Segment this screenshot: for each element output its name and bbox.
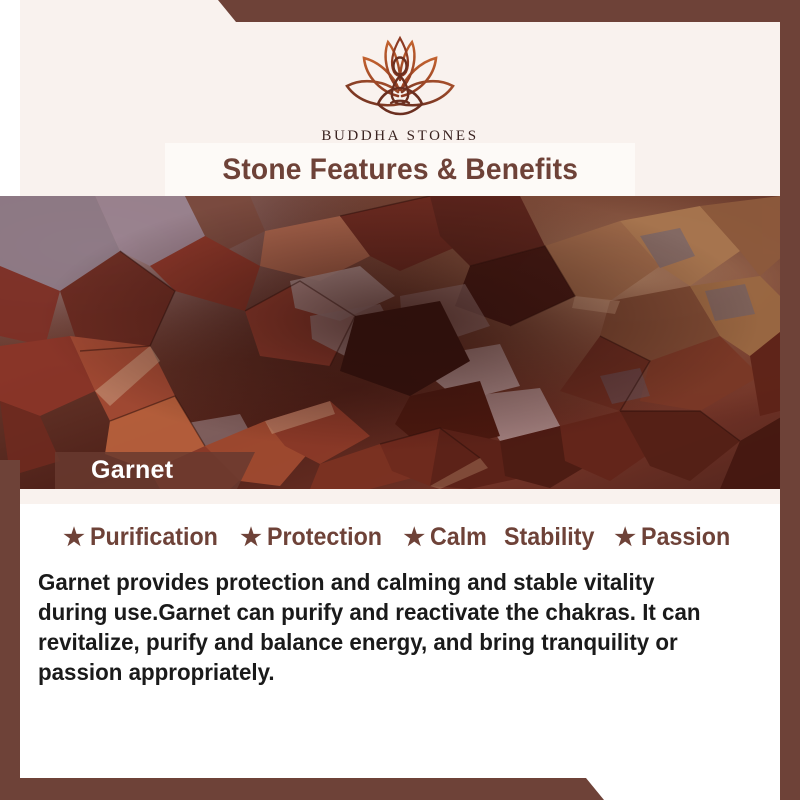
content-area: ★ Purification ★ Protection ★ Calm Stabi… — [20, 489, 780, 778]
benefit-item: ★ Calm — [403, 523, 491, 552]
lotus-meditation-figure-icon — [336, 30, 464, 126]
description-text: Garnet provides protection and calming a… — [38, 567, 727, 687]
garnet-photo — [0, 196, 800, 489]
benefits-row: ★ Purification ★ Protection ★ Calm Stabi… — [20, 523, 780, 552]
frame-left-border — [0, 460, 20, 800]
stone-name-label: Garnet — [55, 456, 173, 485]
benefit-item: ★ Passion — [614, 523, 736, 552]
benefit-label: Protection — [267, 523, 382, 552]
star-icon: ★ — [403, 526, 425, 550]
benefit-label: Purification — [90, 523, 218, 552]
benefit-item: ★ Purification — [63, 523, 227, 552]
page-title: Stone Features & Benefits — [222, 153, 578, 187]
title-banner: Stone Features & Benefits — [165, 143, 635, 196]
description-block: Garnet provides protection and calming a… — [38, 567, 763, 687]
benefit-label: Stability — [504, 523, 594, 552]
frame-right-border — [780, 0, 800, 800]
brand-logo: BUDDHA STONES — [20, 30, 780, 145]
star-icon: ★ — [240, 526, 262, 550]
star-icon: ★ — [63, 526, 85, 550]
cream-divider — [20, 489, 780, 504]
garnet-photo-illustration — [0, 196, 800, 489]
benefit-item: ★ Protection — [240, 523, 390, 552]
benefit-label: Calm — [430, 523, 487, 552]
benefit-item: Stability — [504, 523, 601, 552]
benefit-label: Passion — [641, 523, 730, 552]
frame-bottom-accent — [0, 778, 800, 800]
star-icon: ★ — [614, 526, 636, 550]
stone-name-banner: Garnet — [55, 452, 255, 489]
infographic-page: Garnet — [0, 0, 800, 800]
